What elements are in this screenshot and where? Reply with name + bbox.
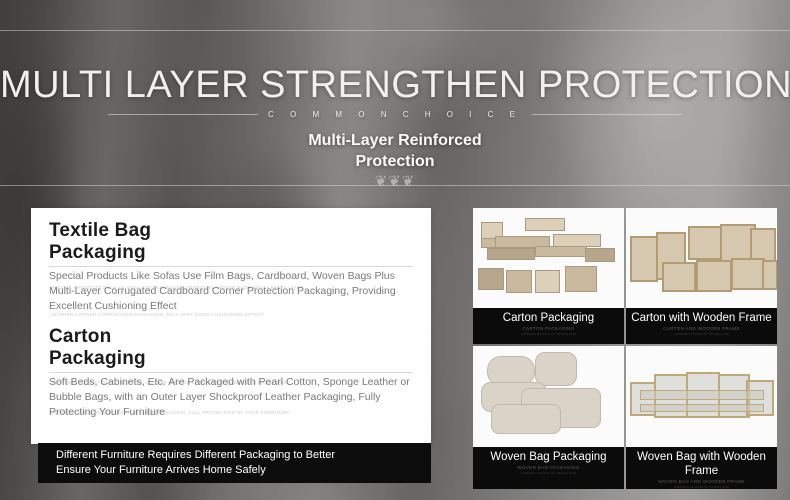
grid-caption: Carton Packaging CARTON PACKAGING COMMON…	[473, 308, 624, 344]
bottom-banner: Different Furniture Requires Different P…	[38, 443, 431, 483]
subtitle-rule-left	[108, 114, 258, 115]
hero-lead: Multi-Layer Reinforced Protection	[0, 130, 790, 172]
grid-cell-woven-bag-wooden-frame[interactable]: Woven Bag with Wooden Frame WOVEN BAG AN…	[626, 346, 777, 489]
banner-line1: Different Furniture Requires Different P…	[56, 449, 335, 461]
grid-caption-title: Woven Bag with Wooden Frame	[626, 450, 777, 478]
grid-caption-ghost2: COMMON CHOICE OF TRAVEL AND	[674, 332, 730, 336]
block-heading: Textile Bag Packaging	[49, 220, 413, 264]
grid-caption-ghost2: COMMON CHOICE OF TRAVEL AND	[521, 471, 577, 475]
block-ghost-line1: SPECIAL PRODUCTS SUCH AS SOFA USE FILM B…	[51, 285, 303, 291]
grid-caption-ghost1: WOVEN BAG AND WOODEN FRAME	[658, 479, 745, 484]
block-ghost-line2: OUTER LAYER OF SHOCKPROOF LEATHER PACKAG…	[51, 410, 290, 416]
woven-bag-wooden-frame-image	[626, 346, 777, 447]
grid-caption-title: Woven Bag Packaging	[490, 450, 606, 464]
woven-bag-furniture-image	[473, 346, 624, 447]
grid-caption-ghost2: COMMON CHOICE OF TRAVEL AND	[674, 485, 730, 489]
carton-wooden-frame-image	[626, 208, 777, 308]
grid-caption: Carton with Wooden Frame CARTON AND WOOD…	[626, 308, 777, 344]
hero-top-rule	[0, 30, 790, 31]
grid-cell-carton-wooden-frame[interactable]: Carton with Wooden Frame CARTON AND WOOD…	[626, 208, 777, 344]
grid-caption-title: Carton Packaging	[503, 311, 594, 325]
hero-lead-line2: Protection	[0, 151, 790, 172]
grid-caption-ghost1: CARTON PACKAGING	[522, 326, 574, 331]
panel-block-carton: Carton Packaging Soft Beds, Cabinets, Et…	[31, 314, 431, 420]
hero-subtitle: C O M M O N C H O I C E	[258, 110, 532, 119]
block-heading-line2: Packaging	[49, 242, 146, 263]
grid-caption-ghost1: WOVEN BAG PACKAGING	[517, 465, 579, 470]
info-panel: Textile Bag Packaging Special Products L…	[31, 208, 431, 444]
page-title: MULTI LAYER STRENGTHEN PROTECTION	[0, 64, 790, 107]
block-heading-line1: Textile Bag	[49, 220, 151, 241]
block-heading: Carton Packaging	[49, 326, 413, 370]
carton-boxes-image	[473, 208, 624, 308]
hero-subtitle-row: C O M M O N C H O I C E	[0, 110, 790, 119]
block-heading-line1: Carton	[49, 326, 111, 347]
grid-caption: Woven Bag Packaging WOVEN BAG PACKAGING …	[473, 447, 624, 489]
photo-grid: Carton Packaging CARTON PACKAGING COMMON…	[473, 208, 783, 489]
grid-caption-ghost2: COMMON CHOICE OF TRAVEL AND	[521, 332, 577, 336]
ornament-divider-icon: ❦❦❦	[0, 172, 790, 190]
grid-caption: Woven Bag with Wooden Frame WOVEN BAG AN…	[626, 447, 777, 489]
banner-text: Different Furniture Requires Different P…	[38, 448, 343, 478]
grid-caption-title: Carton with Wooden Frame	[631, 311, 771, 325]
banner-line2: Ensure Your Furniture Arrives Home Safel…	[56, 464, 266, 476]
hero-lead-line1: Multi-Layer Reinforced	[0, 130, 790, 151]
grid-cell-woven-bag-packaging[interactable]: Woven Bag Packaging WOVEN BAG PACKAGING …	[473, 346, 624, 489]
block-heading-line2: Packaging	[49, 348, 146, 369]
grid-cell-carton-packaging[interactable]: Carton Packaging CARTON PACKAGING COMMON…	[473, 208, 624, 344]
block-ghost-line1: SOFT BED, CABINET, ETC. USE PEARL COTTON…	[51, 380, 287, 386]
panel-block-textile-bag: Textile Bag Packaging Special Products L…	[31, 208, 431, 314]
grid-caption-ghost1: CARTON AND WOODEN FRAME	[663, 326, 740, 331]
subtitle-rule-right	[532, 114, 682, 115]
hero-section: MULTI LAYER STRENGTHEN PROTECTION C O M …	[0, 0, 790, 196]
